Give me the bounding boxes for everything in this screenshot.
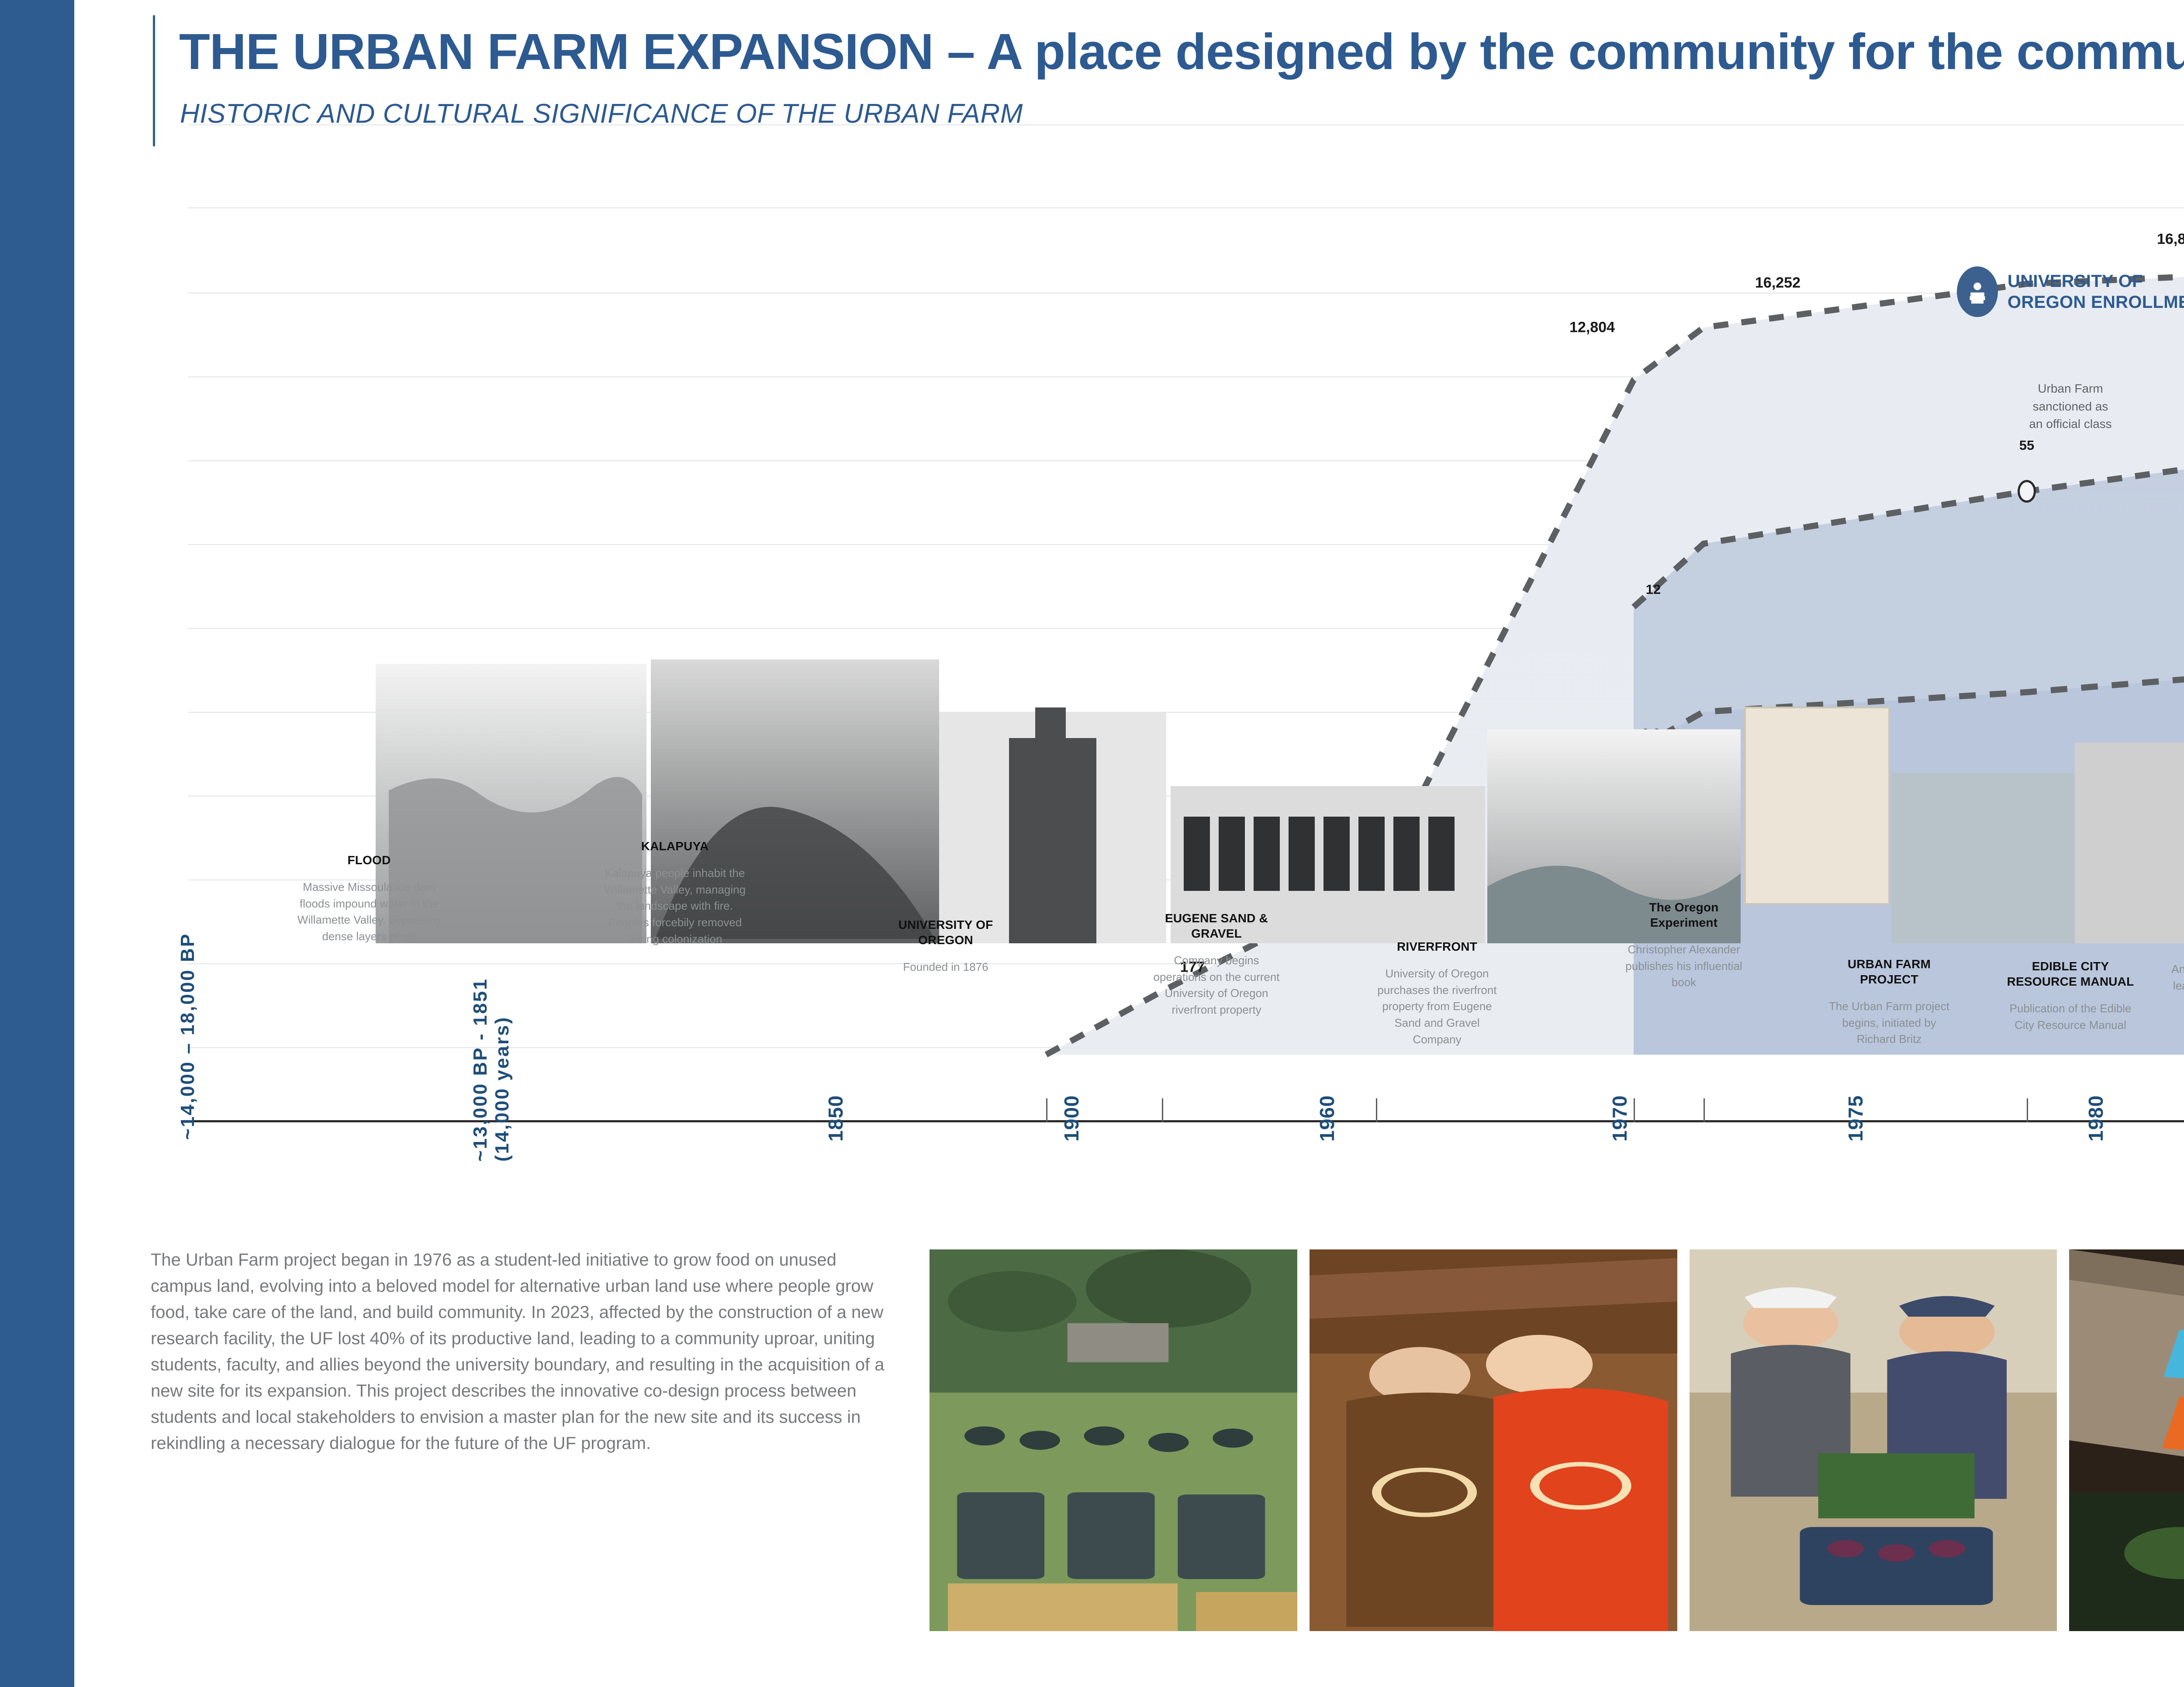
marker-dot-uf-1975 bbox=[2018, 480, 2036, 503]
x-label-line-1: ~13,000 BP - 1851 bbox=[470, 978, 491, 1162]
annotation-line: an official class bbox=[2029, 417, 2111, 431]
historic-image-collage bbox=[376, 659, 2184, 965]
x-label-1850: 1850 bbox=[824, 1095, 847, 1142]
value-label-uo-1970: 16,830 bbox=[2157, 231, 2184, 248]
value-label-uo-1960: 16,252 bbox=[1755, 275, 1800, 292]
x-label-14000-18000-bp: ~14,000 – 18,000 BP bbox=[177, 933, 199, 1140]
x-label-line-2: (14,000 years) bbox=[491, 978, 513, 1162]
legend-uo-enrollment[interactable]: UNIVERSITY OF OREGON ENROLLMENT bbox=[1957, 266, 2184, 317]
value-label-uf-1975: 55 bbox=[2019, 438, 2034, 453]
x-label-1975: 1975 bbox=[1844, 1095, 1867, 1142]
student-icon bbox=[1957, 266, 1998, 317]
annotation-official-class: Urban Farm sanctioned as an official cla… bbox=[2029, 380, 2111, 433]
x-label-1980: 1980 bbox=[2084, 1095, 2108, 1142]
timeline-chart: 177 12,804 16,252 16,830 17,015 20,232 2… bbox=[188, 100, 2184, 1122]
abstract-paragraph: The Urban Farm project began in 1976 as … bbox=[151, 1247, 885, 1456]
header-vertical-rule bbox=[153, 15, 155, 146]
x-label-1970: 1970 bbox=[1608, 1095, 1631, 1142]
x-label-13000-bp-1851: ~13,000 BP - 1851 (14,000 years) bbox=[470, 978, 513, 1162]
legend-label: UNIVERSITY OF OREGON ENROLLMENT bbox=[2008, 271, 2184, 313]
poster-root: THE URBAN FARM EXPANSION – A place desig… bbox=[0, 0, 2184, 1687]
value-label-uo-1900: 12,804 bbox=[1569, 319, 1615, 336]
x-label-1900: 1900 bbox=[1060, 1095, 1083, 1142]
left-blue-spine bbox=[0, 0, 74, 1687]
annotation-line: sanctioned as bbox=[2033, 400, 2108, 413]
x-label-1960: 1960 bbox=[1315, 1095, 1339, 1142]
collage-svg bbox=[376, 659, 2184, 965]
photo-outdoor-class bbox=[928, 1248, 1299, 1632]
legend-line-2: OREGON ENROLLMENT bbox=[2008, 293, 2184, 312]
value-label-uf-1970: 12 bbox=[1646, 582, 1661, 597]
photo-urban-farm-barn-sign bbox=[2068, 1248, 2184, 1632]
photo-strip bbox=[928, 1248, 2184, 1632]
page-title: THE URBAN FARM EXPANSION – A place desig… bbox=[179, 26, 2184, 77]
legend-line-1: UNIVERSITY OF bbox=[2008, 272, 2143, 291]
photo-tie-dye-students bbox=[1308, 1248, 1679, 1632]
annotation-line: Urban Farm bbox=[2038, 382, 2103, 395]
photo-farmers-with-produce bbox=[1688, 1248, 2059, 1632]
